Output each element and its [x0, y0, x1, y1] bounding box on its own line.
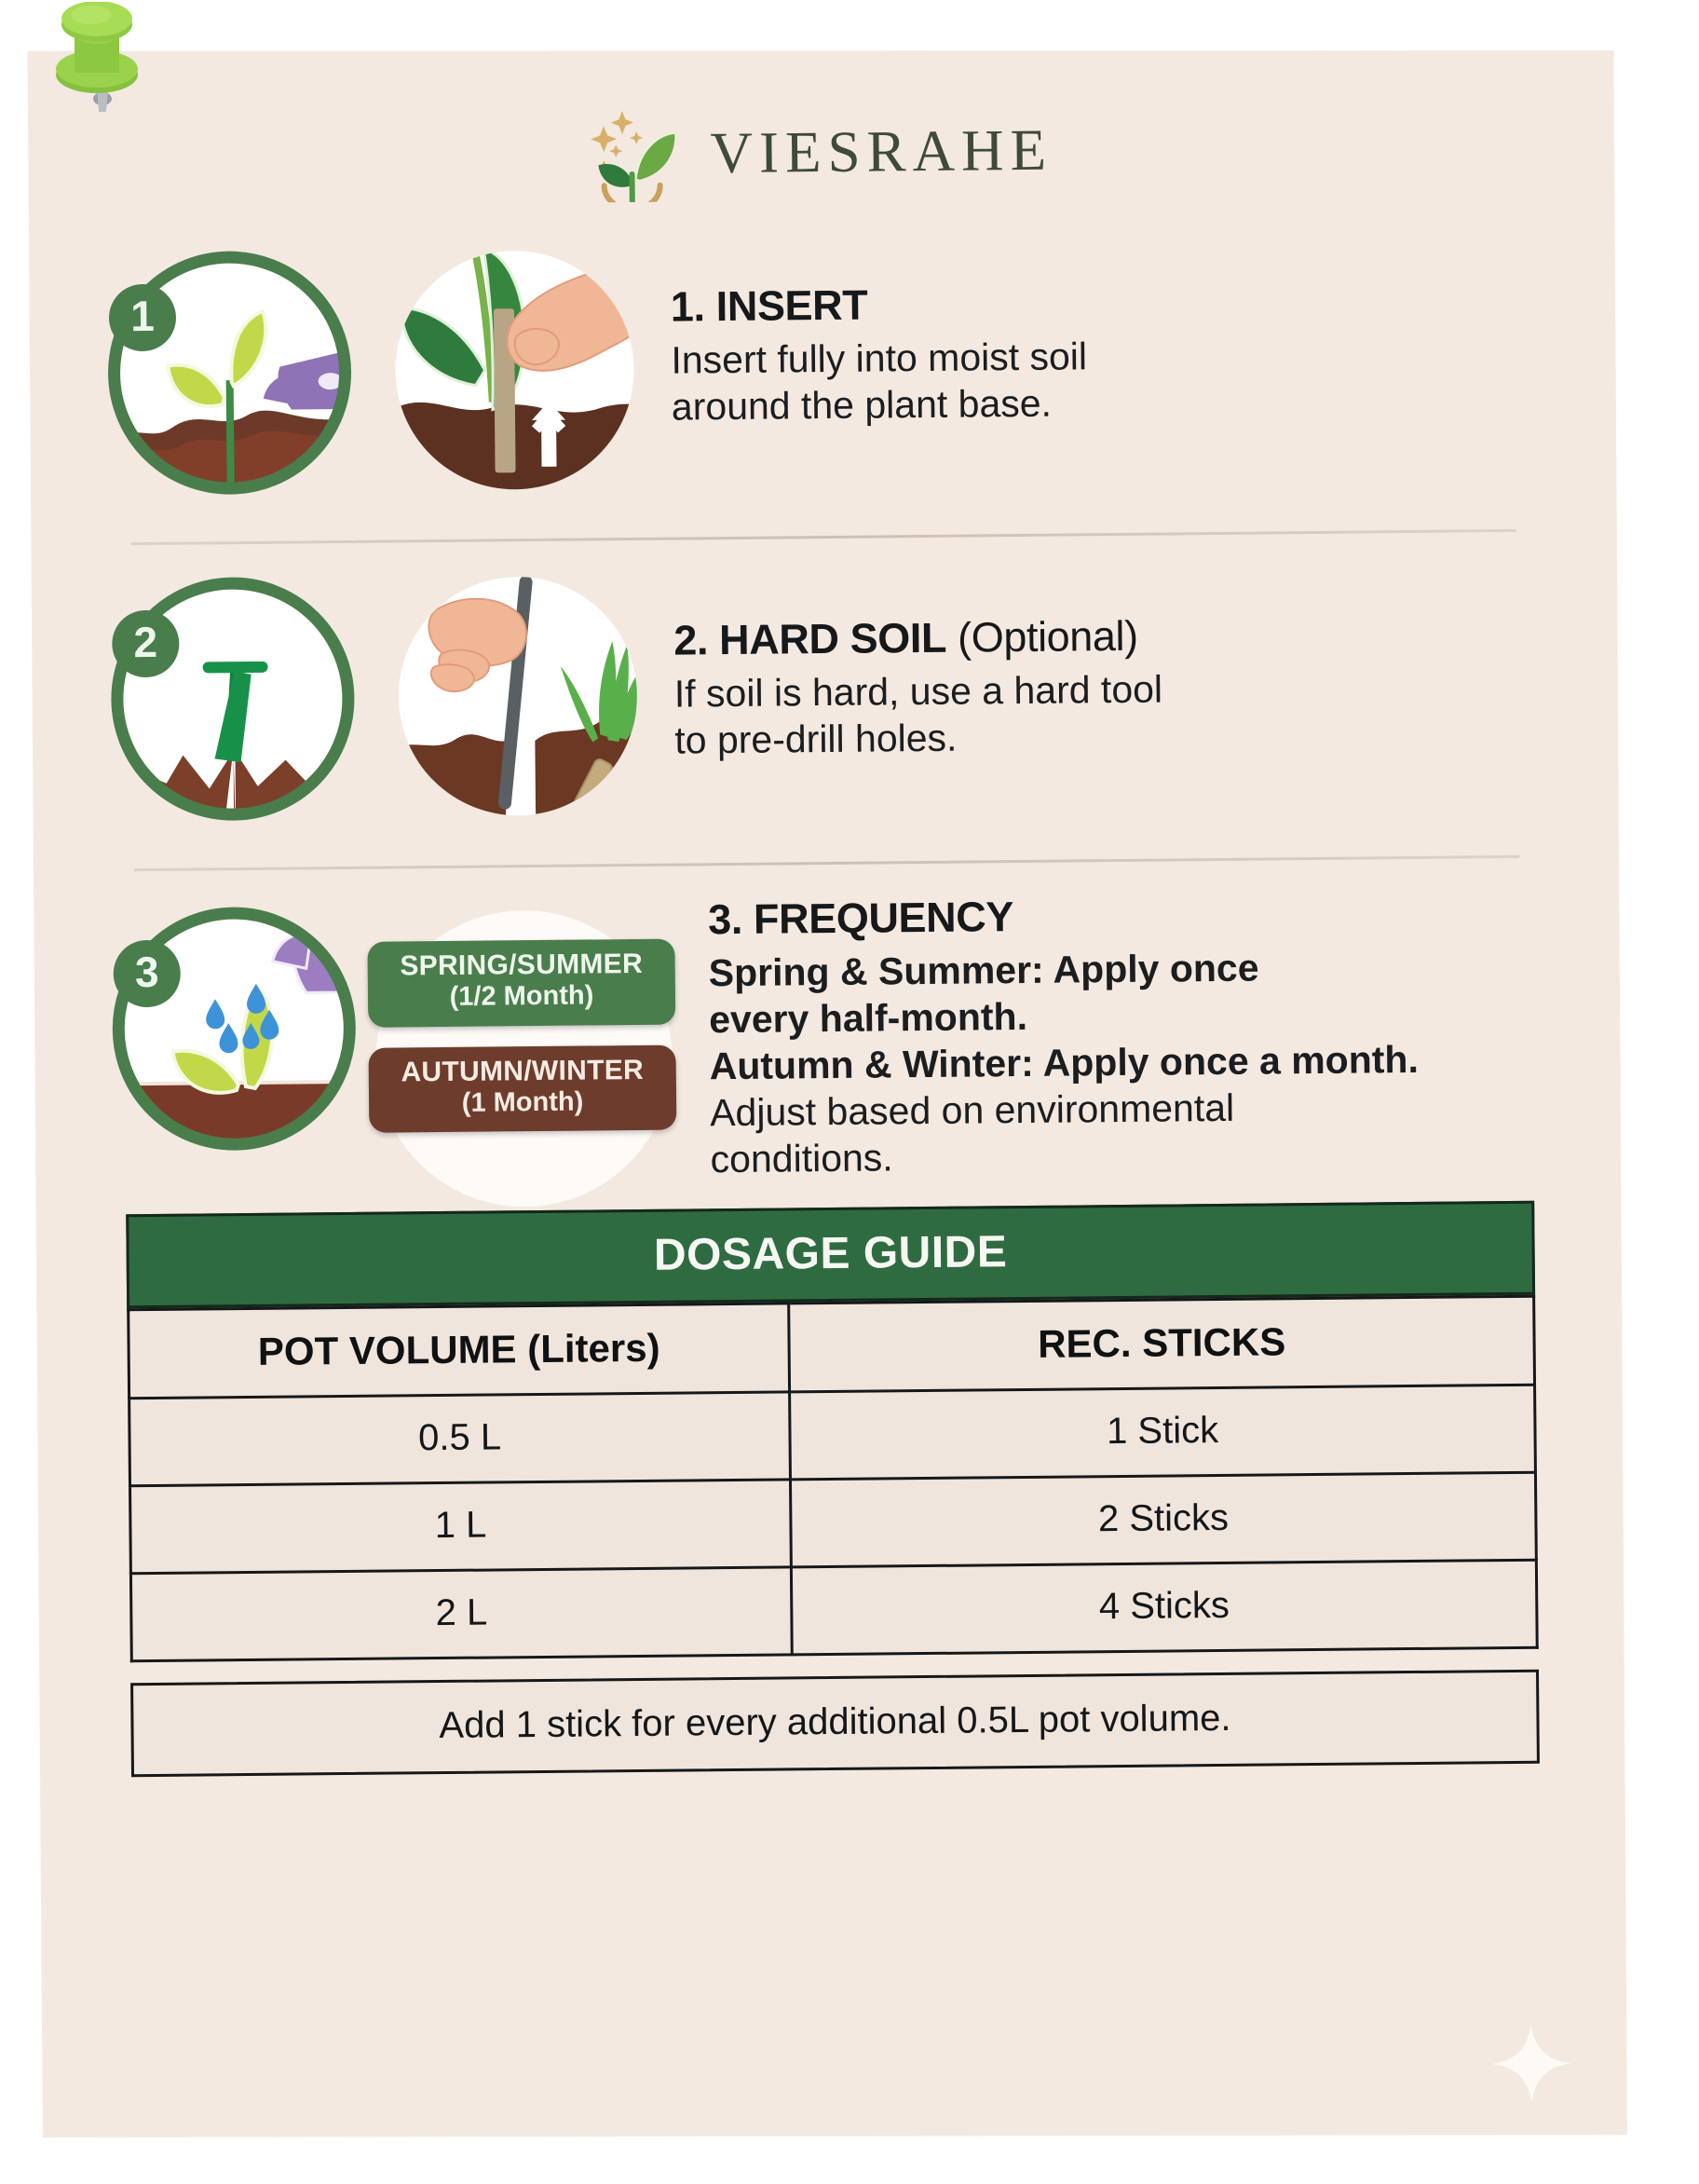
dosage-guide-header: DOSAGE GUIDE [126, 1201, 1535, 1309]
svg-text:2: 2 [133, 618, 157, 666]
brand-header: VIESRAHE [70, 32, 1570, 202]
badge-autumn-winter: AUTUMN/WINTER (1 Month) [369, 1044, 677, 1133]
step-row-1: 1 [72, 220, 1572, 518]
cell-rec-sticks: 2 Sticks [791, 1472, 1537, 1567]
step-1-text: 1. INSERT Insert fully into moist soil a… [653, 225, 1088, 430]
dosage-table: POT VOLUME (Liters) REC. STICKS 0.5 L 1 … [127, 1295, 1539, 1662]
cell-rec-sticks: 4 Sticks [792, 1560, 1538, 1655]
step-3-body-line-5: conditions. [710, 1129, 1420, 1182]
season-badges: SPRING/SUMMER (1/2 Month) AUTUMN/WINTER … [358, 879, 686, 1133]
step-3-title: 3. FREQUENCY [708, 889, 1418, 944]
four-point-star-icon [1492, 2024, 1571, 2103]
dosage-guide: DOSAGE GUIDE POT VOLUME (Liters) REC. ST… [126, 1201, 1540, 1777]
step-3-text: 3. FREQUENCY Spring & Summer: Apply once… [684, 872, 1420, 1183]
dibber-tool-circle-icon: 2 [91, 558, 374, 845]
potted-plant-watering-circle-icon: 3 [95, 882, 377, 1169]
step-2-illustrations: 2 [91, 555, 659, 845]
step-2-body: If soil is hard, use a hard tool to pre-… [674, 666, 1163, 764]
divider-1 [130, 529, 1516, 545]
step-1-title: 1. INSERT [671, 279, 1087, 331]
column-header-pot-volume: POT VOLUME (Liters) [129, 1304, 790, 1399]
svg-text:3: 3 [135, 948, 159, 996]
badge-spring-summer-line1: SPRING/SUMMER [374, 949, 670, 982]
badge-spring-summer-line2: (1/2 Month) [374, 981, 670, 1013]
step-1-illustrations: 1 [88, 229, 656, 519]
brand-name: VIESRAHE [710, 116, 1053, 187]
cell-pot-volume: 0.5 L [129, 1392, 791, 1486]
step-3-body: Spring & Summer: Apply once every half-m… [709, 943, 1420, 1182]
badge-autumn-winter-line2: (1 Month) [374, 1087, 671, 1119]
divider-2 [134, 855, 1520, 871]
poster-canvas: VIESRAHE [0, 0, 1699, 2184]
column-header-rec-sticks: REC. STICKS [789, 1296, 1535, 1392]
cell-pot-volume: 1 L [130, 1480, 792, 1574]
step-row-2: 2 [75, 546, 1575, 844]
step-2-title: 2. HARD SOIL (Optional) [673, 612, 1162, 665]
hand-inserting-stick-icon [374, 229, 656, 516]
step-1-body: Insert fully into moist soil around the … [671, 333, 1088, 430]
hand-drilling-rod-icon [376, 555, 659, 842]
step-1-title-strong: 1. INSERT [671, 281, 868, 331]
table-header-row: POT VOLUME (Liters) REC. STICKS [129, 1296, 1535, 1398]
step-1-body-line-2: around the plant base. [672, 379, 1088, 430]
table-row: 1 L 2 Sticks [130, 1472, 1537, 1573]
paper-card: VIESRAHE [18, 32, 1640, 2154]
step-2-title-optional: (Optional) [946, 612, 1138, 662]
seedling-watering-circle-icon: 1 [88, 232, 371, 519]
dosage-note-text: Add 1 stick for every additional 0.5L po… [439, 1698, 1230, 1746]
badge-spring-summer: SPRING/SUMMER (1/2 Month) [367, 939, 675, 1028]
step-2-text: 2. HARD SOIL (Optional) If soil is hard,… [656, 551, 1162, 764]
step-3-body-line-4: Adjust based on environmental [710, 1083, 1420, 1136]
step-3-title-strong: 3. FREQUENCY [708, 893, 1013, 943]
svg-text:1: 1 [130, 292, 155, 340]
step-row-3: 3 SPRING/SUMMER (1/2 Month) AUTUMN/WINTE… [78, 870, 1579, 1188]
green-pushpin-icon [39, 2, 160, 121]
table-row: 0.5 L 1 Stick [129, 1385, 1536, 1485]
sprout-leaf-sparkle-icon [587, 104, 696, 202]
step-3-body-line-1: Spring & Summer: Apply once [709, 943, 1419, 996]
badge-autumn-winter-line1: AUTUMN/WINTER [374, 1055, 671, 1087]
step-2-title-strong: 2. HARD SOIL [673, 614, 946, 664]
table-row: 2 L 4 Sticks [130, 1560, 1537, 1660]
step-2-body-line-2: to pre-drill holes. [674, 713, 1163, 764]
dosage-guide-title: DOSAGE GUIDE [654, 1227, 1008, 1280]
dosage-note: Add 1 stick for every additional 0.5L po… [130, 1670, 1540, 1778]
step-3-body-line-3: Autumn & Winter: Apply once a month. [709, 1036, 1419, 1089]
cell-rec-sticks: 1 Stick [790, 1385, 1536, 1480]
step-1-body-line-1: Insert fully into moist soil [671, 333, 1087, 383]
cell-pot-volume: 2 L [130, 1567, 792, 1661]
step-3-illustrations: 3 SPRING/SUMMER (1/2 Month) AUTUMN/WINTE… [95, 879, 686, 1168]
step-2-body-line-1: If soil is hard, use a hard tool [674, 666, 1163, 717]
step-3-body-line-2: every half-month. [709, 990, 1419, 1043]
